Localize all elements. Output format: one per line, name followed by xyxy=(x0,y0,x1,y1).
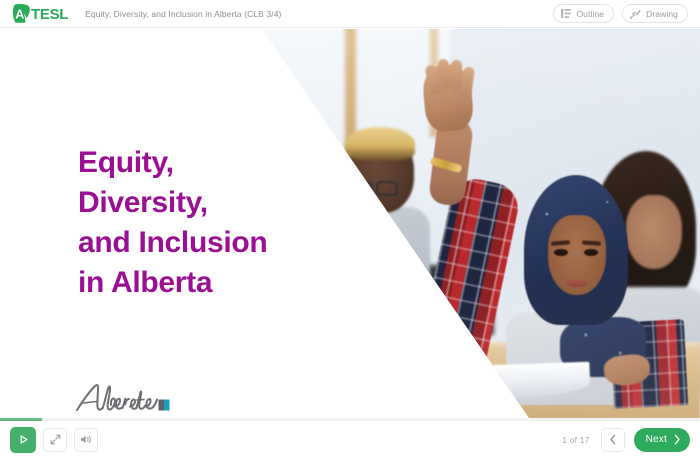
next-slide-button[interactable]: Next xyxy=(634,428,690,452)
top-bar: A TESL Equity, Diversity, and Inclusion … xyxy=(0,0,700,28)
top-bar-actions: Outline Drawing xyxy=(553,4,688,23)
photo-student-male-body xyxy=(318,207,430,327)
next-button-label: Next xyxy=(646,434,667,445)
previous-slide-button[interactable] xyxy=(601,428,625,452)
photo-student-female-face xyxy=(626,195,682,269)
volume-icon xyxy=(80,434,92,445)
photo-back-desk xyxy=(246,225,406,259)
page-counter: 1 of 17 xyxy=(562,435,589,445)
outline-list-icon xyxy=(561,9,571,18)
atesl-logo: A TESL xyxy=(12,3,68,24)
photo-lips xyxy=(566,279,588,287)
navigation-controls: 1 of 17 Next xyxy=(562,428,690,452)
progress-bar[interactable] xyxy=(0,418,700,421)
slide-title: Equity, Diversity, and Inclusion in Albe… xyxy=(78,143,267,303)
outline-button-label: Outline xyxy=(576,9,604,19)
photo-glasses-right xyxy=(376,181,398,196)
alberta-script-icon xyxy=(74,381,170,417)
drawing-button[interactable]: Drawing xyxy=(622,4,688,23)
play-icon xyxy=(18,434,29,445)
course-title: Equity, Diversity, and Inclusion in Albe… xyxy=(85,9,553,19)
player-toolbar: 1 of 17 Next xyxy=(0,418,700,460)
pen-scribble-icon xyxy=(630,9,641,19)
volume-button[interactable] xyxy=(74,428,98,452)
alberta-wordmark xyxy=(74,381,170,417)
fullscreen-button[interactable] xyxy=(43,428,67,452)
chevron-left-icon xyxy=(609,434,617,445)
progress-bar-fill xyxy=(0,418,42,421)
slide-stage[interactable]: Equity, Diversity, and Inclusion in Albe… xyxy=(0,29,700,418)
photo-glasses-left xyxy=(350,181,372,196)
atesl-logo-text: TESL xyxy=(31,7,68,22)
photo-dark-frame xyxy=(92,29,106,137)
playback-controls xyxy=(10,427,98,453)
play-button[interactable] xyxy=(10,427,36,453)
expand-arrows-icon xyxy=(50,434,61,445)
photo-eye xyxy=(554,249,568,256)
photo-book-spine xyxy=(487,365,493,395)
outline-button[interactable]: Outline xyxy=(553,4,614,23)
svg-text:A: A xyxy=(15,8,24,22)
chevron-right-icon xyxy=(673,434,681,445)
drawing-button-label: Drawing xyxy=(646,9,678,19)
slide-player: A TESL Equity, Diversity, and Inclusion … xyxy=(0,0,700,460)
photo-door-frame xyxy=(48,29,74,227)
photo-eye xyxy=(584,249,598,256)
photo-student-male-hair xyxy=(345,127,415,161)
atesl-leaf-icon: A xyxy=(12,3,31,24)
